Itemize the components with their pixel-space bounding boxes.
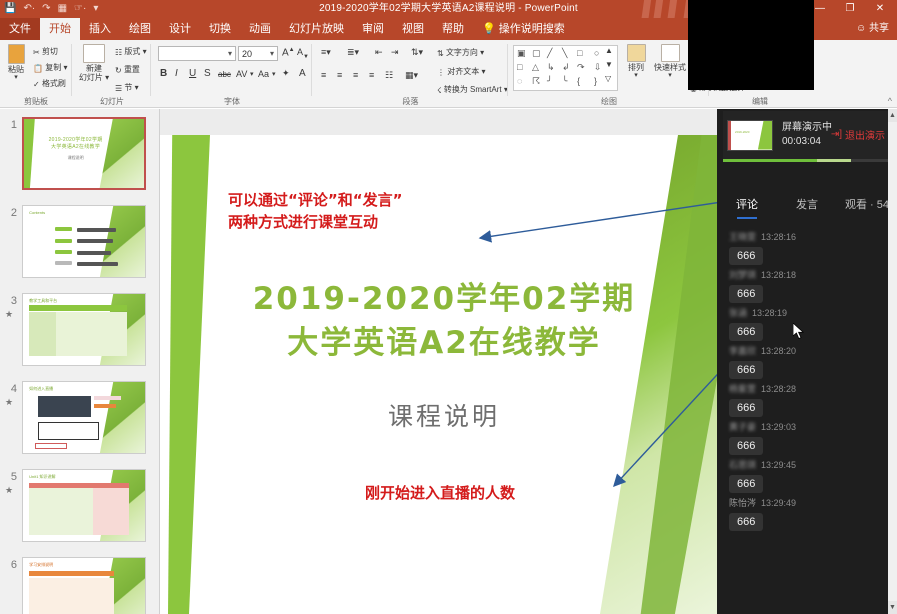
chat-text: 666 [729, 437, 763, 455]
paste-button[interactable]: 粘贴 ▾ [2, 44, 30, 82]
arrange-label: 排列 [628, 63, 644, 72]
align-left-button[interactable]: ≡ [321, 70, 326, 80]
chat-message: 陈怡涔13:29:49 666 [717, 493, 897, 531]
thumbnail-number: 4 [3, 383, 17, 395]
collapse-ribbon-icon[interactable]: ^ [888, 96, 892, 106]
copy-label: 复制 [45, 63, 61, 72]
underline-button[interactable]: U [189, 68, 196, 79]
live-panel-tabs[interactable]: 评论 发言 观看 · 54 [717, 189, 897, 219]
thumb-title-line1: 2019-2020学年02学期 [38, 136, 112, 143]
tab-tell-me[interactable]: 💡 操作说明搜索 [473, 18, 574, 40]
smartart-button[interactable]: ☇ 转换为 SmartArt ▾ [437, 84, 508, 95]
slide-canvas[interactable]: 2019-2020学年02学期 大学英语A2在线教学 课程说明 [160, 109, 720, 614]
thumb-heading: Unit1 知识讲解 [29, 474, 55, 480]
thumb-subtitle: 课程说明 [38, 155, 112, 161]
group-label-slides: 幻灯片 [73, 96, 151, 107]
text-direction-label: 文字方向 [446, 48, 478, 57]
canvas-top-band [160, 109, 720, 135]
thumbnail-slide-3[interactable]: 3 ★ 教学工具和平台 [0, 293, 160, 371]
reset-label: 重置 [124, 65, 140, 74]
shrink-font-button[interactable]: A▼ [297, 47, 309, 60]
font-name-input[interactable]: ▾ [158, 46, 236, 61]
font-name-chevron-icon[interactable]: ▾ [228, 49, 232, 58]
thumbnail-image[interactable]: Unit1 知识讲解 [22, 469, 146, 542]
tab-help[interactable]: 帮助 [433, 18, 473, 40]
align-right-button[interactable]: ≡ [353, 70, 358, 80]
thumbnail-slide-1[interactable]: 1 2019-2020学年02学期 大学英语A2在线教学 课程说明 [0, 117, 160, 195]
decrease-indent-button[interactable]: ⇤ [375, 47, 383, 58]
annotation-viewers: 刚开始进入直播的人数 [365, 483, 515, 505]
main-scrollbar[interactable]: ▲ ▼ [888, 109, 897, 614]
tab-speak[interactable]: 发言 [777, 196, 837, 212]
lightbulb-icon: 💡 [482, 23, 496, 35]
person-share-icon: ☺ [856, 23, 866, 34]
section-chevron-icon[interactable]: ▾ [135, 83, 139, 92]
presentation-preview-thumbnail: 2019-2020 [727, 120, 773, 151]
presentation-status-bar: 2019-2020 屏幕演示中 00:03:04 ⇥] 退出演示 [723, 111, 891, 159]
thumbnail-slide-2[interactable]: 2 Contents [0, 205, 160, 283]
chat-time: 13:28:19 [752, 308, 787, 318]
chat-author: 王晓雯 [729, 232, 756, 242]
chat-author: 李嘉欣 [729, 346, 756, 356]
group-label-paragraph: 段落 [313, 96, 508, 107]
thumbnail-number: 6 [3, 559, 17, 571]
ribbon-group-clipboard: 粘贴 ▾ ✂ 剪切 📋 复制 ▾ ✓ 格式刷 剪贴板 [0, 40, 72, 108]
shapes-gallery[interactable]: ▣▢ ╱╲ □○ □△ ↳↲ ↷⇩ ◌☈ ╯╰ {} [513, 45, 618, 91]
chat-author: 石思琪 [729, 460, 756, 470]
thumbnail-number: 2 [3, 207, 17, 219]
change-case-button[interactable]: Aa [258, 69, 269, 79]
align-text-button[interactable]: ⋮ 对齐文本 ▾ [437, 66, 485, 77]
strikethrough-button[interactable]: abc [218, 70, 231, 79]
new-slide-label: 新建 幻灯片 [79, 64, 103, 82]
tab-insert[interactable]: 插入 [80, 18, 120, 40]
bullets-button[interactable]: ≡▾ [321, 47, 331, 58]
thumbnail-image[interactable]: 2019-2020学年02学期 大学英语A2在线教学 课程说明 [22, 117, 146, 190]
thumbnail-image[interactable]: Contents [22, 205, 146, 278]
text-align-grid-button[interactable]: ▦▾ [405, 70, 418, 81]
text-direction-icon: ⇅ [437, 49, 444, 58]
quick-styles-button[interactable]: 快速样式 ▾ [653, 44, 687, 80]
font-name-value [159, 47, 235, 49]
copy-chevron-icon[interactable]: ▾ [63, 63, 67, 72]
star-icon: ★ [5, 485, 13, 496]
chat-time: 13:29:45 [761, 460, 796, 470]
thumbnail-number: 5 [3, 471, 17, 483]
text-shadow-button[interactable]: S [204, 68, 211, 79]
copy-button[interactable]: 📋 复制 ▾ [33, 62, 67, 73]
thumbnail-image[interactable]: 学习安排说明 [22, 557, 146, 614]
scroll-down-button[interactable]: ▼ [888, 601, 897, 614]
justify-button[interactable]: ≡ [369, 70, 374, 80]
chat-time: 13:29:49 [761, 498, 796, 508]
ribbon-group-slides: 新建 幻灯片 ▾ ☷ 版式 ▾ ↻ 重置 ☰ 节 ▾ 幻灯片 [73, 40, 151, 108]
tab-animations[interactable]: 动画 [240, 18, 280, 40]
presentation-elapsed-time: 00:03:04 [782, 135, 832, 150]
chat-text: 666 [729, 399, 763, 417]
reset-button[interactable]: ↻ 重置 [115, 64, 140, 75]
tab-design[interactable]: 设计 [160, 18, 200, 40]
layout-label: 版式 [124, 47, 140, 56]
cut-label: 剪切 [42, 47, 58, 56]
tab-transitions[interactable]: 切换 [200, 18, 240, 40]
live-stream-panel[interactable]: 2019-2020 屏幕演示中 00:03:04 ⇥] 退出演示 评论 发言 观… [717, 109, 897, 614]
columns-button[interactable]: ☷ [385, 70, 393, 81]
chat-time: 13:28:16 [761, 232, 796, 242]
star-icon: ★ [5, 309, 13, 320]
group-label-font: 字体 [152, 96, 312, 107]
thumbnail-image[interactable]: 教学工具和平台 [22, 293, 146, 366]
chat-text: 666 [729, 247, 763, 265]
restore-button[interactable]: ❐ [835, 0, 865, 18]
thumbnail-slide-5[interactable]: 5 ★ Unit1 知识讲解 [0, 469, 160, 547]
tab-slideshow[interactable]: 幻灯片放映 [280, 18, 353, 40]
chat-message-list[interactable]: 王晓雯13:28:16 666 刘梦琪13:28:18 666 张涵13:28:… [717, 227, 897, 592]
font-size-input[interactable]: 20 ▾ [238, 46, 278, 61]
format-painter-label: 格式刷 [42, 79, 66, 88]
text-direction-chevron-icon[interactable]: ▾ [480, 48, 484, 57]
share-label: 共享 [869, 23, 889, 34]
paste-label: 粘贴 [8, 65, 24, 74]
chat-message: 李嘉欣13:28:20 666 [717, 341, 897, 379]
chat-time: 13:28:28 [761, 384, 796, 394]
tab-home[interactable]: 开始 [40, 18, 80, 40]
layout-button[interactable]: ☷ 版式 ▾ [115, 46, 147, 57]
grow-font-button[interactable]: A▲ [282, 47, 295, 58]
align-text-label: 对齐文本 [447, 67, 479, 76]
section-icon: ☰ [115, 84, 122, 93]
quick-styles-label: 快速样式 [654, 63, 686, 72]
thumbnail-slide-4[interactable]: 4 ★ 如何进入直播 [0, 381, 160, 459]
chat-author: 杨紫萱 [729, 384, 756, 394]
powerpoint-window: 💾 ↶· ↷ ▦ ☞· ▾ 2019-2020学年02学期大学英语A2课程说明 … [0, 0, 897, 614]
chat-time: 13:29:03 [761, 422, 796, 432]
tab-file[interactable]: 文件 [0, 18, 40, 40]
align-text-chevron-icon[interactable]: ▾ [481, 67, 485, 76]
thumb-title-line2: 大学英语A2在线教学 [38, 143, 112, 150]
spacing-chevron-icon[interactable]: ▾ [250, 70, 254, 78]
mouse-cursor [793, 323, 805, 341]
chat-message: 杨紫萱13:28:28 666 [717, 379, 897, 417]
shapes-scroll-up-icon[interactable]: ▲ [605, 46, 613, 55]
increase-indent-button[interactable]: ⇥ [391, 47, 399, 58]
thumbnail-image[interactable]: 如何进入直播 [22, 381, 146, 454]
chat-message: 刘梦琪13:28:18 666 [717, 265, 897, 303]
new-slide-chevron-icon[interactable]: ▾ [105, 73, 109, 82]
grow-font-label: A [282, 47, 289, 58]
scissors-icon: ✂ [33, 48, 40, 57]
copy-icon: 📋 [33, 64, 43, 73]
exit-presentation-label: 退出演示 [845, 127, 885, 142]
presentation-progress-bar[interactable] [723, 159, 891, 162]
tab-tell-me-label: 操作说明搜索 [499, 23, 565, 35]
arrange-button[interactable]: 排列 ▾ [621, 44, 651, 80]
thumb-heading: 教学工具和平台 [29, 298, 57, 304]
video-overlay [688, 0, 814, 90]
window-controls[interactable]: — ❐ ✕ [805, 0, 895, 18]
clear-formatting-button[interactable]: ✦ [282, 68, 290, 79]
group-label-drawing: 绘图 [509, 96, 709, 107]
chat-author: 张涵 [729, 308, 747, 318]
slide-title: 2019-2020学年02学期 大学英语A2在线教学 [168, 277, 720, 365]
exit-presentation-button[interactable]: ⇥] 退出演示 [831, 127, 885, 142]
ribbon-group-paragraph: ≡▾ ≣▾ ⇤ ⇥ ⇅▾ ⇅ 文字方向 ▾ ≡ ≡ ≡ ≡ ☷ ▦▾ ⋮ 对齐文… [313, 40, 508, 108]
slide-thumbnail-pane[interactable]: 1 2019-2020学年02学期 大学英语A2在线教学 课程说明 2 Cont… [0, 109, 160, 614]
cut-button[interactable]: ✂ 剪切 [33, 46, 58, 57]
new-slide-button[interactable]: 新建 幻灯片 ▾ [77, 44, 111, 82]
close-button[interactable]: ✕ [865, 0, 895, 18]
chat-time: 13:28:20 [761, 346, 796, 356]
chat-time: 13:28:18 [761, 270, 796, 280]
align-text-icon: ⋮ [437, 68, 445, 77]
thumbnail-number: 3 [3, 295, 17, 307]
bold-button[interactable]: B [160, 68, 167, 79]
tab-comments[interactable]: 评论 [717, 196, 777, 212]
text-direction-button[interactable]: ⇅ 文字方向 ▾ [437, 47, 484, 58]
annotation-interaction: 可以通过“评论”和“发言” 两种方式进行课堂互动 [228, 190, 402, 234]
slide-title-line2: 大学英语A2在线教学 [168, 321, 720, 365]
ribbon-group-font: ▾ 20 ▾ A▲ A▼ B I U S abc AV ▾ Aa ▾ ✦ A 字… [152, 40, 312, 108]
layout-chevron-icon[interactable]: ▾ [143, 47, 147, 56]
presentation-status-title: 屏幕演示中 [782, 121, 832, 136]
tab-review[interactable]: 审阅 [353, 18, 393, 40]
tab-draw[interactable]: 绘图 [120, 18, 160, 40]
smartart-label: 转换为 SmartArt [444, 85, 502, 94]
scroll-up-button[interactable]: ▲ [888, 109, 897, 122]
chat-author: 黄子豪 [729, 422, 756, 432]
share-button[interactable]: ☺ 共享 [852, 20, 893, 38]
font-size-chevron-icon[interactable]: ▾ [270, 49, 274, 58]
numbering-button[interactable]: ≣▾ [347, 47, 359, 58]
thumbnail-number: 1 [3, 119, 17, 131]
chat-message: 王晓雯13:28:16 666 [717, 227, 897, 265]
thumb-heading: 学习安排说明 [29, 562, 53, 568]
layout-icon: ☷ [115, 48, 122, 57]
exit-icon: ⇥] [831, 129, 842, 140]
section-button[interactable]: ☰ 节 ▾ [115, 82, 139, 93]
section-label: 节 [124, 83, 132, 92]
italic-button[interactable]: I [175, 68, 178, 79]
chat-author: 陈怡涔 [729, 498, 756, 508]
shapes-scroll-down-icon[interactable]: ▼ [605, 60, 613, 69]
thumb-heading: 如何进入直播 [29, 386, 53, 392]
star-icon: ★ [5, 397, 13, 408]
thumbnail-slide-6[interactable]: 6 学习安排说明 [0, 557, 160, 614]
thumb-heading: Contents [29, 210, 45, 215]
group-label-editing: 编辑 [710, 96, 810, 107]
chat-message: 张涵13:28:19 666 [717, 303, 897, 341]
format-painter-button[interactable]: ✓ 格式刷 [33, 78, 66, 89]
slide-left-accent [168, 135, 210, 614]
chat-text: 666 [729, 361, 763, 379]
slide-subtitle: 课程说明 [168, 397, 720, 433]
tab-view[interactable]: 视图 [393, 18, 433, 40]
ribbon-group-drawing: ▣▢ ╱╲ □○ □△ ↳↲ ↷⇩ ◌☈ ╯╰ {} ▲ ▼ ▽ 排列 ▾ 快速… [509, 40, 709, 108]
chat-message: 黄子豪13:29:03 666 [717, 417, 897, 455]
smartart-icon: ☇ [437, 86, 442, 95]
share-area[interactable]: ☺ 共享 [852, 20, 893, 38]
character-spacing-button[interactable]: AV [236, 69, 247, 79]
font-color-button[interactable]: A [299, 68, 306, 79]
case-chevron-icon[interactable]: ▾ [272, 70, 276, 78]
chat-message: 石思琪13:29:45 666 [717, 455, 897, 493]
group-label-clipboard: 剪贴板 [0, 96, 72, 107]
brush-icon: ✓ [33, 80, 40, 89]
chat-author: 刘梦琪 [729, 270, 756, 280]
shapes-more-icon[interactable]: ▽ [605, 74, 611, 83]
slide-title-line1: 2019-2020学年02学期 [168, 277, 720, 321]
chat-text: 666 [729, 513, 763, 531]
chat-text: 666 [729, 475, 763, 493]
line-spacing-button[interactable]: ⇅▾ [411, 47, 423, 58]
chat-text: 666 [729, 285, 763, 303]
align-center-button[interactable]: ≡ [337, 70, 342, 80]
chat-text: 666 [729, 323, 763, 341]
reset-icon: ↻ [115, 66, 122, 75]
